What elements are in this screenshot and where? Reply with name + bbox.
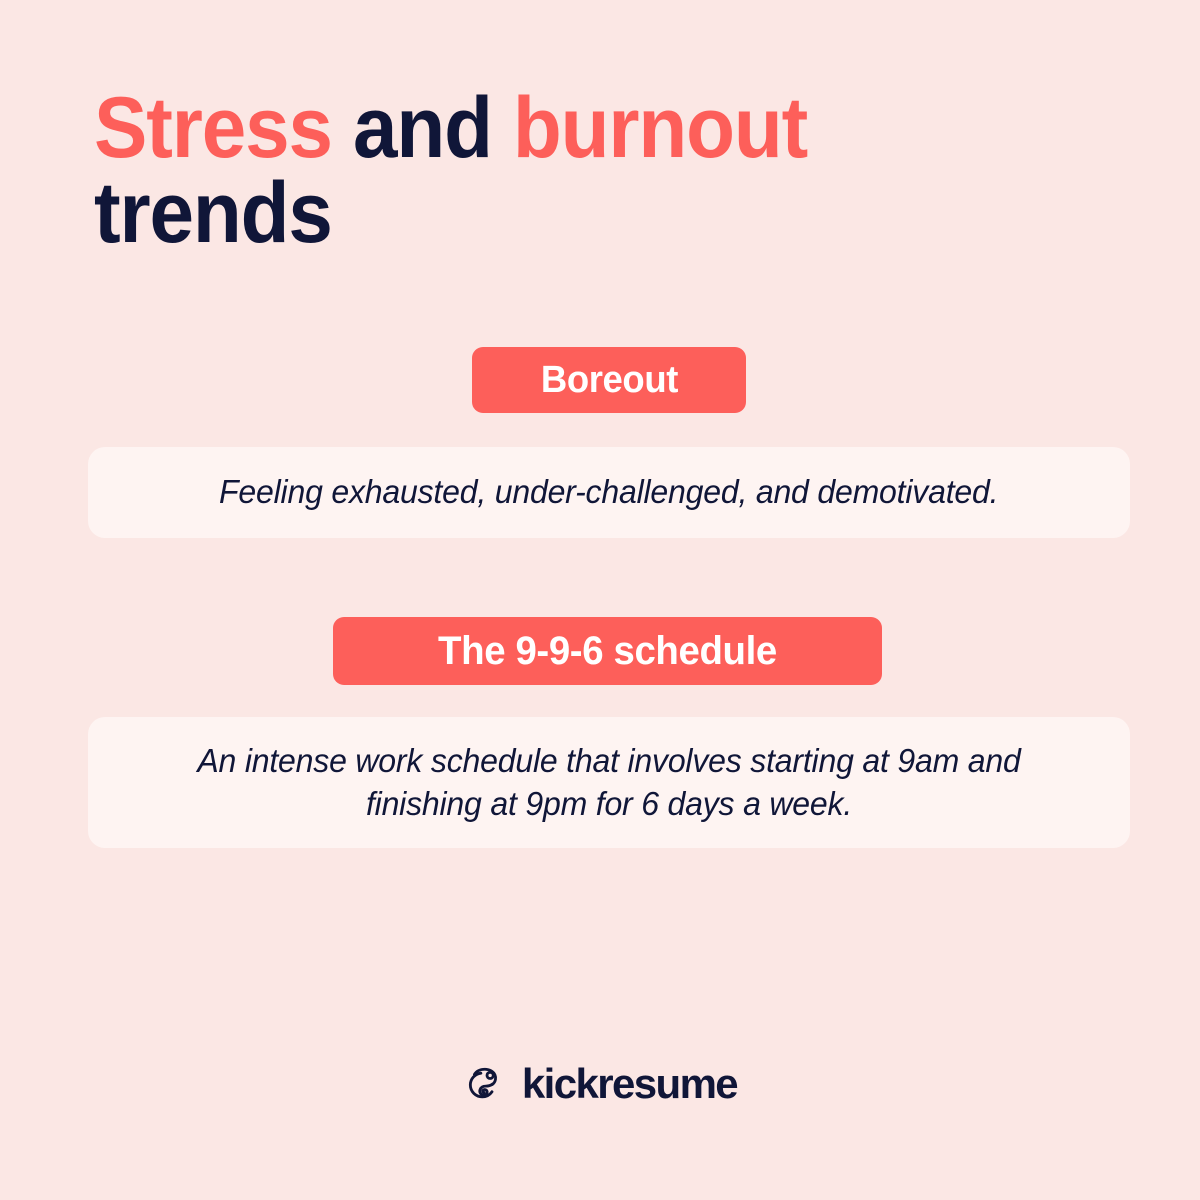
card-schedule: An intense work schedule that involves s…: [88, 717, 1130, 848]
badge-boreout-label: Boreout: [540, 359, 677, 402]
page-title: Stress and burnouttrends: [94, 86, 1094, 256]
brand-name: kickresume: [522, 1063, 737, 1105]
badge-schedule: The 9-9-6 schedule: [333, 617, 882, 685]
title-word-burnout: burnout: [513, 80, 807, 176]
footer-logo: kickresume: [0, 1062, 1200, 1106]
card-schedule-description: An intense work schedule that involves s…: [137, 740, 1082, 826]
badge-schedule-label: The 9-9-6 schedule: [438, 629, 777, 674]
card-boreout: Feeling exhausted, under-challenged, and…: [88, 447, 1130, 538]
title-heading: Stress and burnouttrends: [94, 86, 1024, 256]
title-word-stress: Stress: [94, 80, 353, 176]
card-boreout-description: Feeling exhausted, under-challenged, and…: [219, 471, 998, 514]
kickresume-chameleon-icon: [463, 1062, 507, 1106]
title-word-and: and: [353, 80, 513, 176]
badge-boreout: Boreout: [472, 347, 746, 413]
poster-canvas: Stress and burnouttrends Boreout Feeling…: [0, 0, 1200, 1200]
title-word-trends: trends: [94, 165, 332, 261]
